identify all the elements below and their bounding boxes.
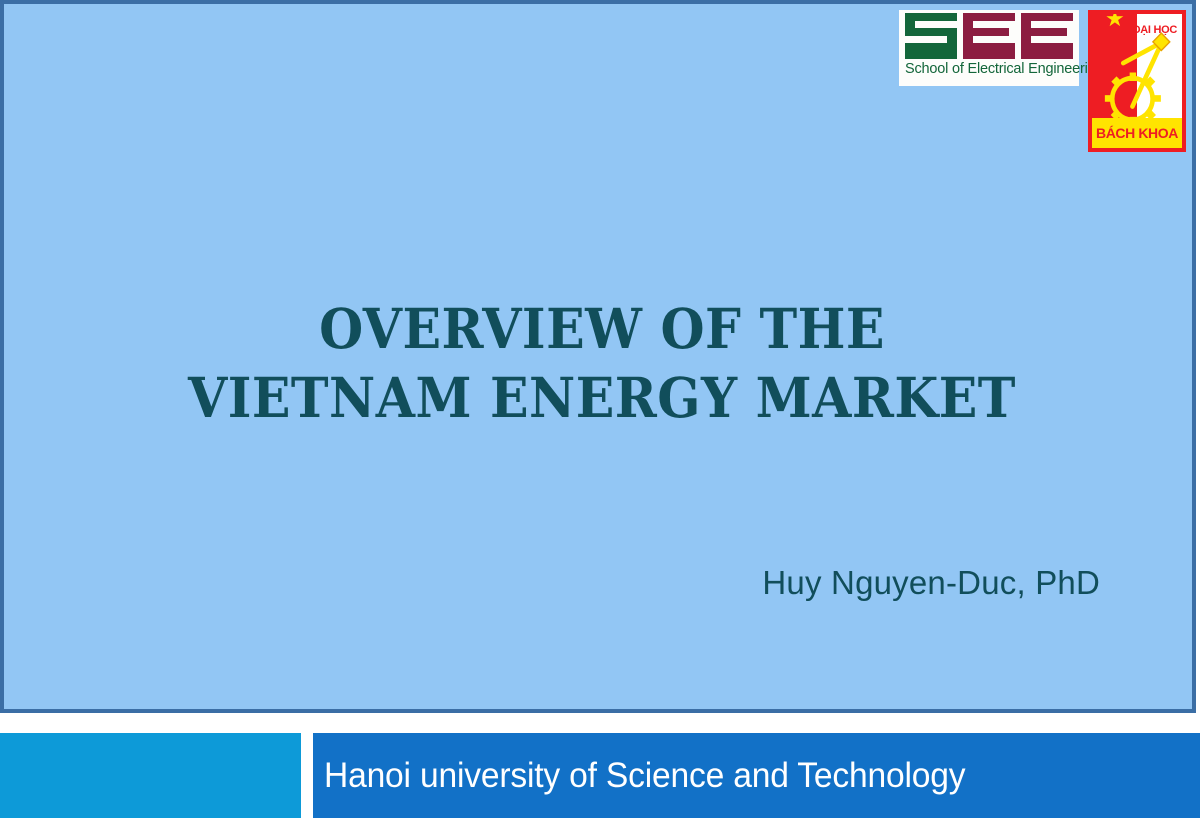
slide-title-line-2: VIETNAM ENERGY MARKET [52,364,1152,433]
logo-row: School of Electrical Engineering ĐẠI HỌC [899,10,1186,152]
see-letter-e-first-icon [963,13,1015,59]
see-letter-s-icon [905,13,957,59]
presentation-slide: School of Electrical Engineering ĐẠI HỌC [0,0,1200,831]
see-logo: School of Electrical Engineering [899,10,1079,86]
hust-banner: BÁCH KHOA [1092,118,1182,148]
footer-bar: Hanoi university of Science and Technolo… [313,733,1200,818]
slide-content-panel: School of Electrical Engineering ĐẠI HỌC [0,0,1196,713]
hust-bach-khoa-label: BÁCH KHOA [1096,125,1178,141]
hust-logo: ĐẠI HỌC [1088,10,1186,152]
see-wordmark [903,13,1075,59]
footer-institution-label: Hanoi university of Science and Technolo… [324,756,965,796]
see-logo-caption: School of Electrical Engineering [905,62,1075,77]
see-letter-e-second-icon [1021,13,1073,59]
slide-title: OVERVIEW OF THE VIETNAM ENERGY MARKET [52,295,1152,433]
slide-title-line-1: OVERVIEW OF THE [52,295,1152,364]
footer-accent-block [0,733,301,818]
slide-author: Huy Nguyen-Duc, PhD [4,564,1100,602]
